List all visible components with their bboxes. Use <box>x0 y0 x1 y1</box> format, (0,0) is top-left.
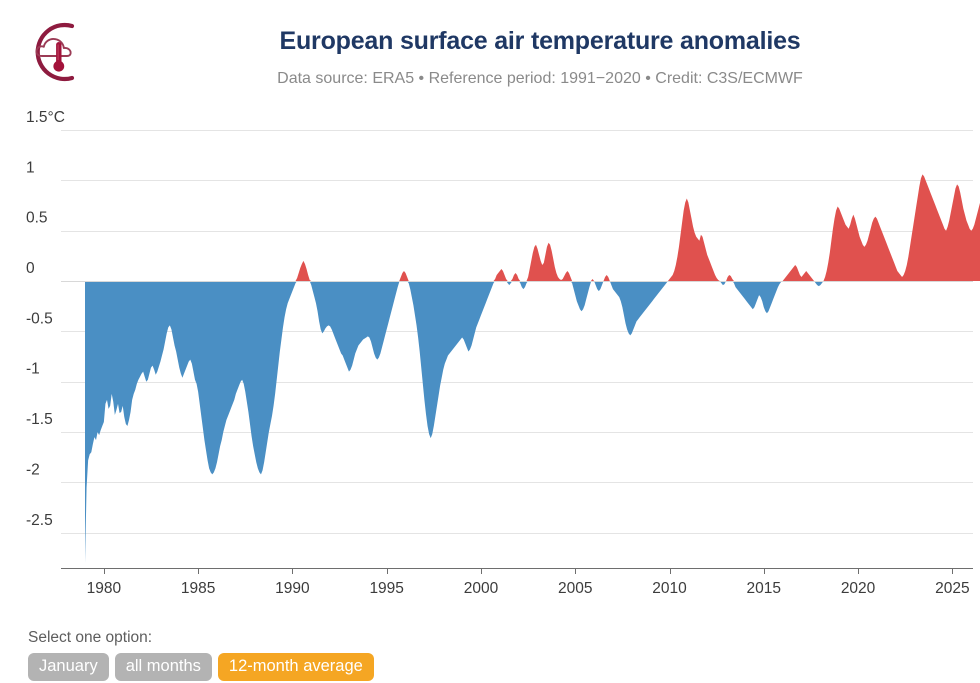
x-tick-label: 2020 <box>841 580 876 597</box>
option-button-12-month-average[interactable]: 12-month average <box>218 653 374 681</box>
chart-subtitle: Data source: ERA5 • Reference period: 19… <box>110 70 970 88</box>
x-tick-label: 1990 <box>275 580 310 597</box>
option-button-group: Januaryall months12-month average <box>28 653 374 681</box>
select-option-label: Select one option: <box>28 629 152 647</box>
chart-y-axis-labels: 1.5°C10.50-0.5-1-1.5-2-2.5 <box>26 109 65 529</box>
y-tick-label: 1.5°C <box>26 109 65 126</box>
x-tick-label: 2015 <box>747 580 781 597</box>
x-tick-label: 2000 <box>464 580 499 597</box>
y-tick-label: -1.5 <box>26 411 53 428</box>
x-tick-label: 1995 <box>369 580 403 597</box>
y-tick-label: 1 <box>26 159 35 176</box>
chart-controls: Select one option: Januaryall months12-m… <box>0 620 980 683</box>
chart-header: European surface air temperature anomali… <box>0 0 980 105</box>
x-tick-label: 2010 <box>652 580 687 597</box>
y-tick-label: 0.5 <box>26 210 48 227</box>
x-tick-label: 2025 <box>935 580 969 597</box>
y-tick-label: -1 <box>26 361 40 378</box>
chart-x-axis <box>61 568 973 574</box>
y-tick-label: 0 <box>26 260 35 277</box>
copernicus-cloud-thermometer-logo <box>18 16 90 88</box>
y-tick-label: -0.5 <box>26 310 53 327</box>
option-button-all-months[interactable]: all months <box>115 653 212 681</box>
x-tick-label: 2005 <box>558 580 592 597</box>
x-tick-label: 1980 <box>87 580 122 597</box>
option-button-january[interactable]: January <box>28 653 109 681</box>
page-title: European surface air temperature anomali… <box>110 27 970 56</box>
chart-plot-area: 1.5°C10.50-0.5-1-1.5-2-2.5 1980198519901… <box>0 105 980 605</box>
anomaly-area-chart: 1.5°C10.50-0.5-1-1.5-2-2.5 1980198519901… <box>0 105 980 605</box>
y-tick-label: -2 <box>26 461 40 478</box>
chart-series-area <box>85 135 980 563</box>
chart-x-axis-labels: 1980198519901995200020052010201520202025 <box>87 580 970 597</box>
x-tick-label: 1985 <box>181 580 215 597</box>
y-tick-label: -2.5 <box>26 512 53 529</box>
